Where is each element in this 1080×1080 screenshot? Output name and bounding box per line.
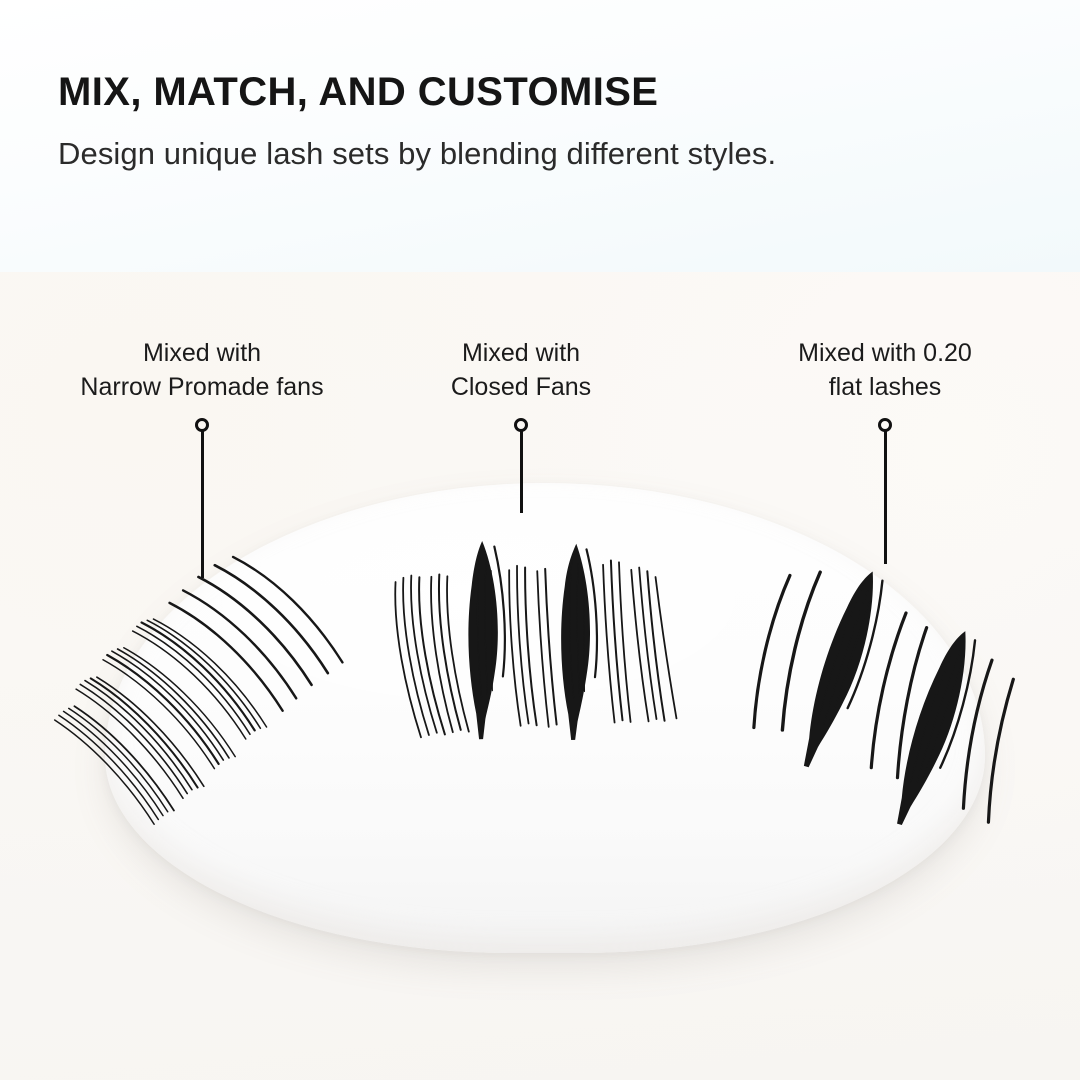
open-fan <box>603 560 631 723</box>
page-title: MIX, MATCH, AND CUSTOMISE <box>58 70 658 115</box>
pointer-stem <box>520 431 523 513</box>
lash-cluster-flat-lashes <box>728 565 1058 835</box>
open-fan <box>631 566 676 721</box>
open-fan <box>508 565 536 726</box>
open-fan <box>430 574 469 733</box>
flat-lash <box>742 575 800 728</box>
closed-fan <box>465 540 509 739</box>
header-band: MIX, MATCH, AND CUSTOMISE Design unique … <box>0 0 1080 272</box>
product-infographic: MIX, MATCH, AND CUSTOMISE Design unique … <box>0 0 1080 1080</box>
caption-closed-fans: Mixed with Closed Fans <box>401 336 641 404</box>
lash-cluster-closed-fans <box>382 525 702 775</box>
pointer-stem <box>884 431 887 564</box>
pointer-dot-icon <box>878 418 892 432</box>
pointer-dot-icon <box>514 418 528 432</box>
page-subtitle: Design unique lash sets by blending diff… <box>58 136 776 172</box>
closed-fan <box>558 543 601 740</box>
lash-cluster-narrow-promade-fans <box>40 575 380 875</box>
caption-narrow-promade-fans: Mixed with Narrow Promade fans <box>42 336 362 404</box>
pointer-stem <box>201 431 204 578</box>
open-fan <box>394 575 445 738</box>
caption-flat-lashes: Mixed with 0.20 flat lashes <box>765 336 1005 404</box>
promade-fan <box>53 688 175 841</box>
pointer-dot-icon <box>195 418 209 432</box>
open-fan <box>537 569 557 727</box>
